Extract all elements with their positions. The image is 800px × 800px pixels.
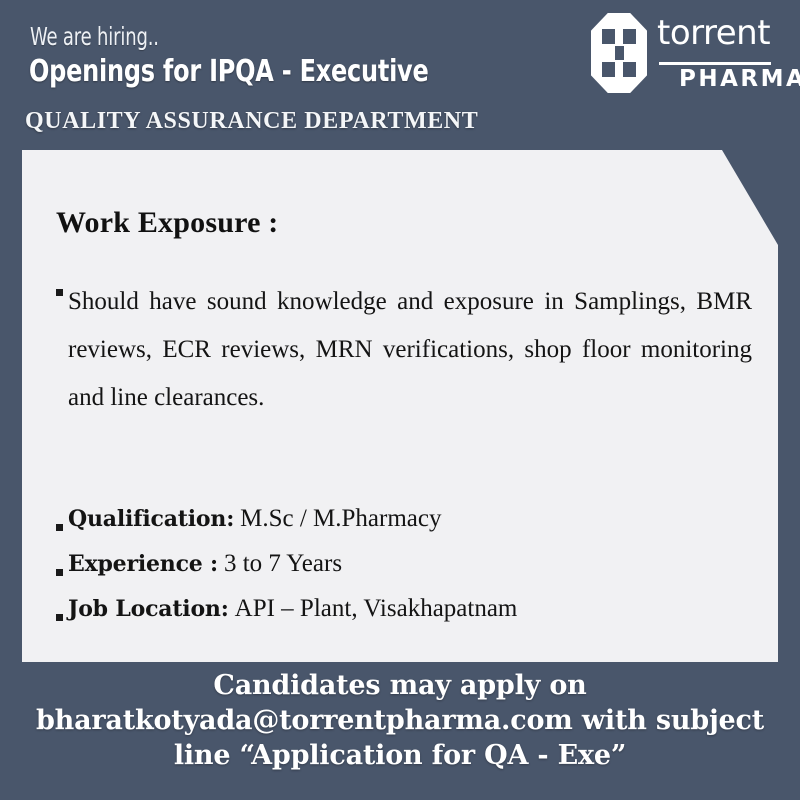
logo-square-top-left xyxy=(602,29,615,44)
hiring-tagline: We are hiring.. xyxy=(30,22,159,51)
experience-row: Experience : 3 to 7 Years xyxy=(68,550,342,578)
square-bullet-icon xyxy=(42,278,68,296)
apply-line-1: Candidates may apply on xyxy=(0,668,800,703)
work-exposure-bullet: Should have sound knowledge and exposure… xyxy=(42,278,754,422)
list-item: Qualification: M.Sc / M.Pharmacy xyxy=(42,505,742,550)
department-title: QUALITY ASSURANCE DEPARTMENT xyxy=(25,108,478,135)
square-bullet-icon xyxy=(42,569,68,576)
torrent-octagon-mark xyxy=(591,13,647,93)
experience-value: 3 to 7 Years xyxy=(224,550,342,577)
job-location-row: Job Location: API – Plant, Visakhapatnam xyxy=(68,595,517,623)
apply-instructions-footer: Candidates may apply on bharatkotyada@to… xyxy=(0,668,800,773)
square-bullet-icon xyxy=(42,524,68,531)
logo-square-bottom-right xyxy=(623,62,636,77)
job-location-label: Job Location: xyxy=(68,596,229,622)
logo-wordmark: torrent xyxy=(657,16,770,50)
logo-square-top-right xyxy=(623,29,636,44)
apply-email-line[interactable]: bharatkotyada@torrentpharma.com with sub… xyxy=(0,703,800,738)
job-details-card: Work Exposure : Should have sound knowle… xyxy=(22,150,778,662)
job-opening-title: Openings for IPQA - Executive xyxy=(29,54,429,89)
list-item: Experience : 3 to 7 Years xyxy=(42,550,742,595)
work-exposure-heading: Work Exposure : xyxy=(56,206,278,240)
qualification-row: Qualification: M.Sc / M.Pharmacy xyxy=(68,505,442,533)
qualification-label: Qualification: xyxy=(68,506,234,532)
job-details-card-content: Work Exposure : Should have sound knowle… xyxy=(22,150,778,662)
torrent-pharma-logo: torrent PHARMA xyxy=(591,10,776,98)
experience-label: Experience : xyxy=(68,551,218,577)
qualification-value: M.Sc / M.Pharmacy xyxy=(240,505,441,532)
apply-subject-line: line “Application for QA - Exe” xyxy=(0,738,800,773)
job-detail-list: Qualification: M.Sc / M.Pharmacy Experie… xyxy=(42,505,742,640)
poster-header: We are hiring.. Openings for IPQA - Exec… xyxy=(0,0,800,146)
square-bullet-icon xyxy=(42,614,68,621)
job-location-value: API – Plant, Visakhapatnam xyxy=(235,595,518,622)
logo-square-center xyxy=(615,46,624,60)
list-item: Job Location: API – Plant, Visakhapatnam xyxy=(42,595,742,640)
logo-divider-rule xyxy=(659,62,771,65)
work-exposure-text: Should have sound knowledge and exposure… xyxy=(68,278,754,422)
logo-subtext: PHARMA xyxy=(679,68,800,91)
logo-square-bottom-left xyxy=(602,62,615,77)
